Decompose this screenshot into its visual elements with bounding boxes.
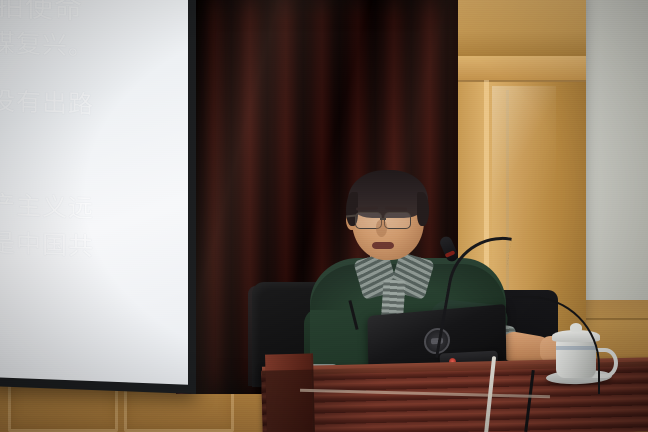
door-header <box>458 0 586 59</box>
eyeglasses-lens-right <box>384 212 411 229</box>
speaker-nose <box>376 220 387 237</box>
speaker-hair-side <box>417 192 429 226</box>
speaker-mouth <box>372 242 394 249</box>
projection-screen: 与己拍使命 民族谋复兴。 族是没有出路 ，共产主义远 想，是中国共 <box>0 0 196 394</box>
screen-slide-text: 与己拍使命 民族谋复兴。 族是没有出路 ，共产主义远 想，是中国共 <box>0 0 188 387</box>
door-transom <box>458 56 586 82</box>
screen-surface: 与己拍使命 民族谋复兴。 族是没有出路 ，共产主义远 想，是中国共 <box>0 0 188 385</box>
photograph: 与己拍使命 民族谋复兴。 族是没有出路 ，共产主义远 想，是中国共 <box>0 0 648 432</box>
speaker-hair <box>348 170 428 218</box>
